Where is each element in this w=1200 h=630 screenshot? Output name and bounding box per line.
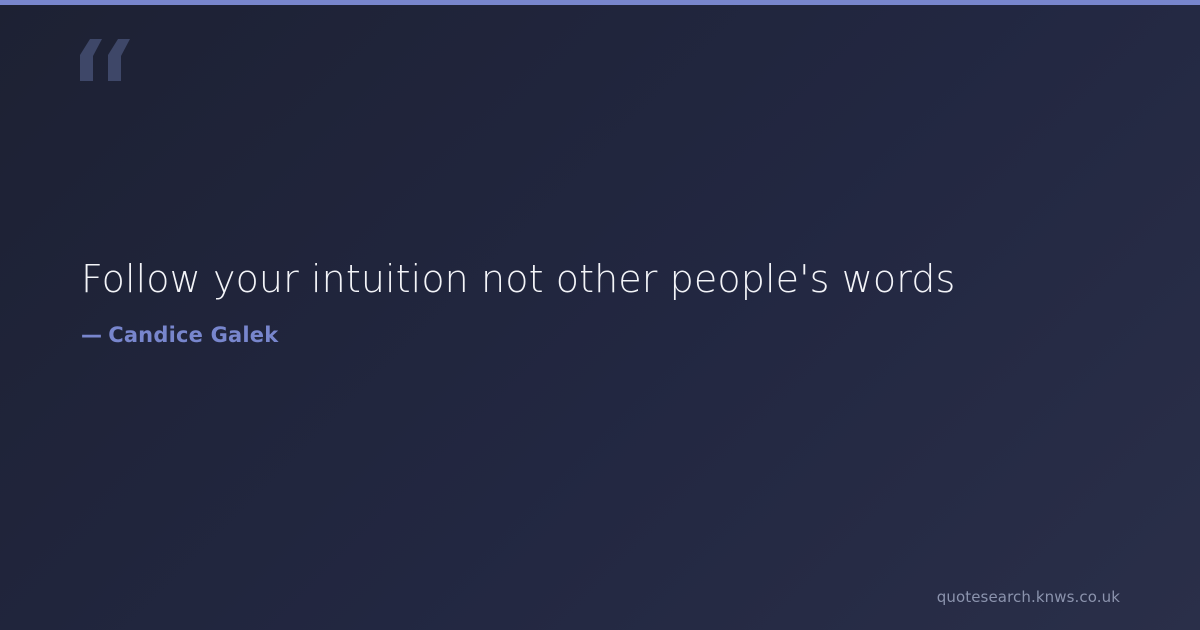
- quote-text: Follow your intuition not other people's…: [81, 255, 1121, 303]
- quote-attribution: —Candice Galek: [81, 303, 1121, 348]
- source-url: quotesearch.knws.co.uk: [937, 588, 1120, 606]
- quote-card: Follow your intuition not other people's…: [0, 0, 1200, 630]
- em-dash: —: [81, 322, 108, 348]
- top-accent-bar: [0, 0, 1200, 5]
- quote-content: Follow your intuition not other people's…: [81, 255, 1121, 348]
- author-name: Candice Galek: [108, 323, 278, 347]
- double-open-quote-icon: [80, 39, 132, 81]
